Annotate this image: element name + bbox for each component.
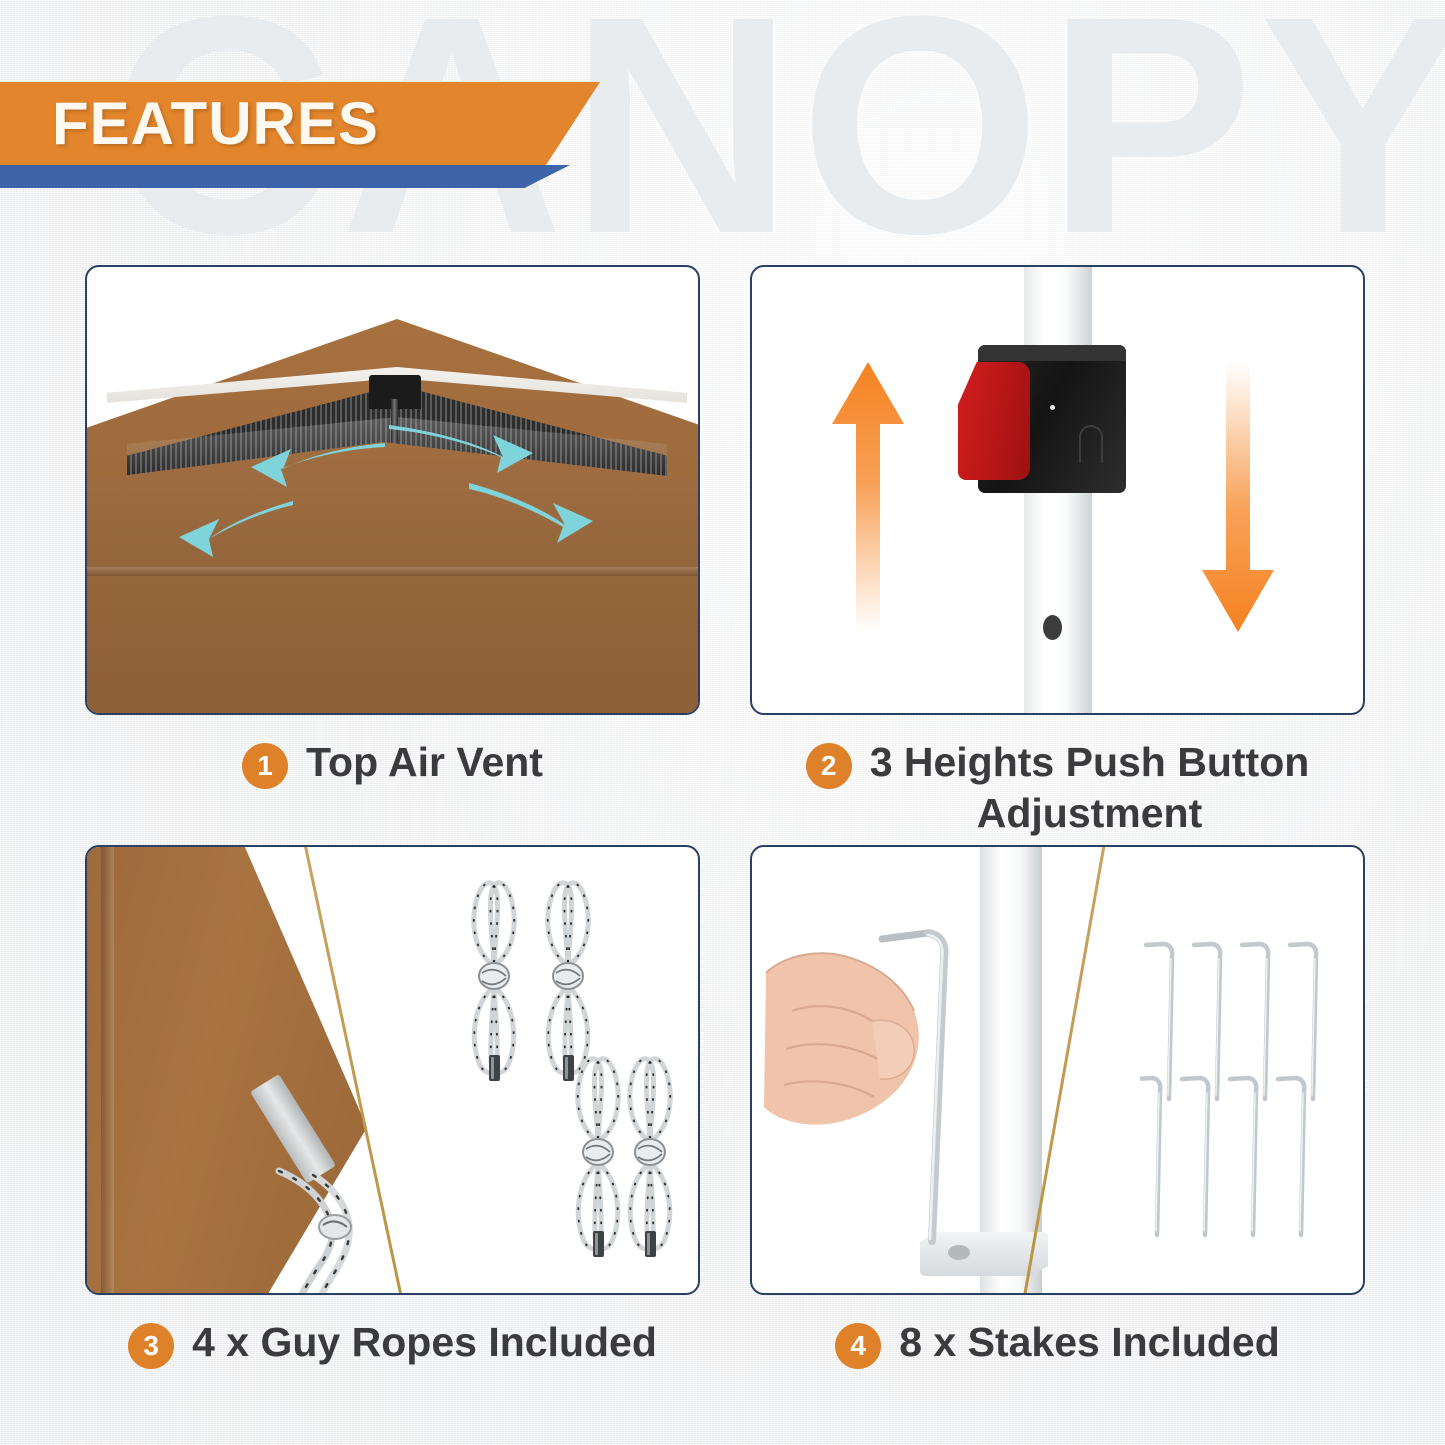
feature-caption-text: 3 Heights Push Button Adjustment: [870, 737, 1310, 839]
rope-bundle-icon: [621, 1045, 679, 1260]
top-air-vent-illustration: [85, 265, 700, 715]
red-push-button: [958, 362, 1030, 480]
feature-number-badge: 3: [128, 1323, 174, 1369]
down-arrow-icon: [1200, 362, 1276, 632]
feature-card-4: 4 8 x Stakes Included: [750, 845, 1365, 1425]
canopy-front-panel: [87, 442, 698, 713]
feature-caption-2: 2 3 Heights Push Button Adjustment: [750, 715, 1365, 845]
push-button-housing-top: [978, 345, 1126, 361]
caption-line-1: 3 Heights Push Button: [870, 737, 1310, 788]
features-grid: 1 Top Air Vent: [85, 265, 1365, 1425]
airflow-arrow-icon: [465, 479, 595, 543]
features-banner: FEATURES: [0, 82, 640, 192]
airflow-arrow-icon: [175, 497, 295, 557]
housing-slot: [1079, 425, 1103, 463]
feature-number-badge: 2: [806, 743, 852, 789]
attached-guy-rope-icon: [273, 1167, 453, 1295]
rope-bundle-icon: [569, 1045, 627, 1260]
feature-caption-3: 3 4 x Guy Ropes Included: [85, 1295, 700, 1425]
push-button-height-illustration: [750, 265, 1365, 715]
feature-caption-text: 4 x Guy Ropes Included: [192, 1317, 657, 1368]
banner-blue-underline: [0, 165, 570, 188]
guy-ropes-illustration: [85, 845, 700, 1295]
feature-caption-text: Top Air Vent: [306, 737, 543, 788]
feature-caption-1: 1 Top Air Vent: [85, 715, 700, 845]
vent-scene: [87, 267, 698, 713]
feature-card-3: 3 4 x Guy Ropes Included: [85, 845, 700, 1425]
feature-number-badge: 4: [835, 1323, 881, 1369]
feature-number-badge: 1: [242, 743, 288, 789]
feature-card-2: 2 3 Heights Push Button Adjustment: [750, 265, 1365, 845]
feature-caption-text: 8 x Stakes Included: [899, 1317, 1280, 1368]
banner-title: FEATURES: [52, 93, 379, 155]
airflow-arrow-icon: [385, 417, 535, 473]
housing-pin-dot: [1050, 405, 1055, 410]
stakes-illustration: [750, 845, 1365, 1295]
canopy-stitch-seam: [87, 567, 698, 576]
rope-bundle-icon: [465, 869, 523, 1084]
stake-icon: [870, 923, 980, 1253]
caption-line-2: Adjustment: [870, 788, 1310, 839]
stakes-group: [1140, 939, 1340, 1239]
up-arrow-icon: [830, 362, 906, 632]
airflow-arrow-icon: [247, 437, 387, 489]
fabric-hem-stitch: [101, 845, 114, 1295]
feature-caption-4: 4 8 x Stakes Included: [750, 1295, 1365, 1425]
feature-card-1: 1 Top Air Vent: [85, 265, 700, 845]
pole-adjustment-hole: [1043, 615, 1062, 640]
